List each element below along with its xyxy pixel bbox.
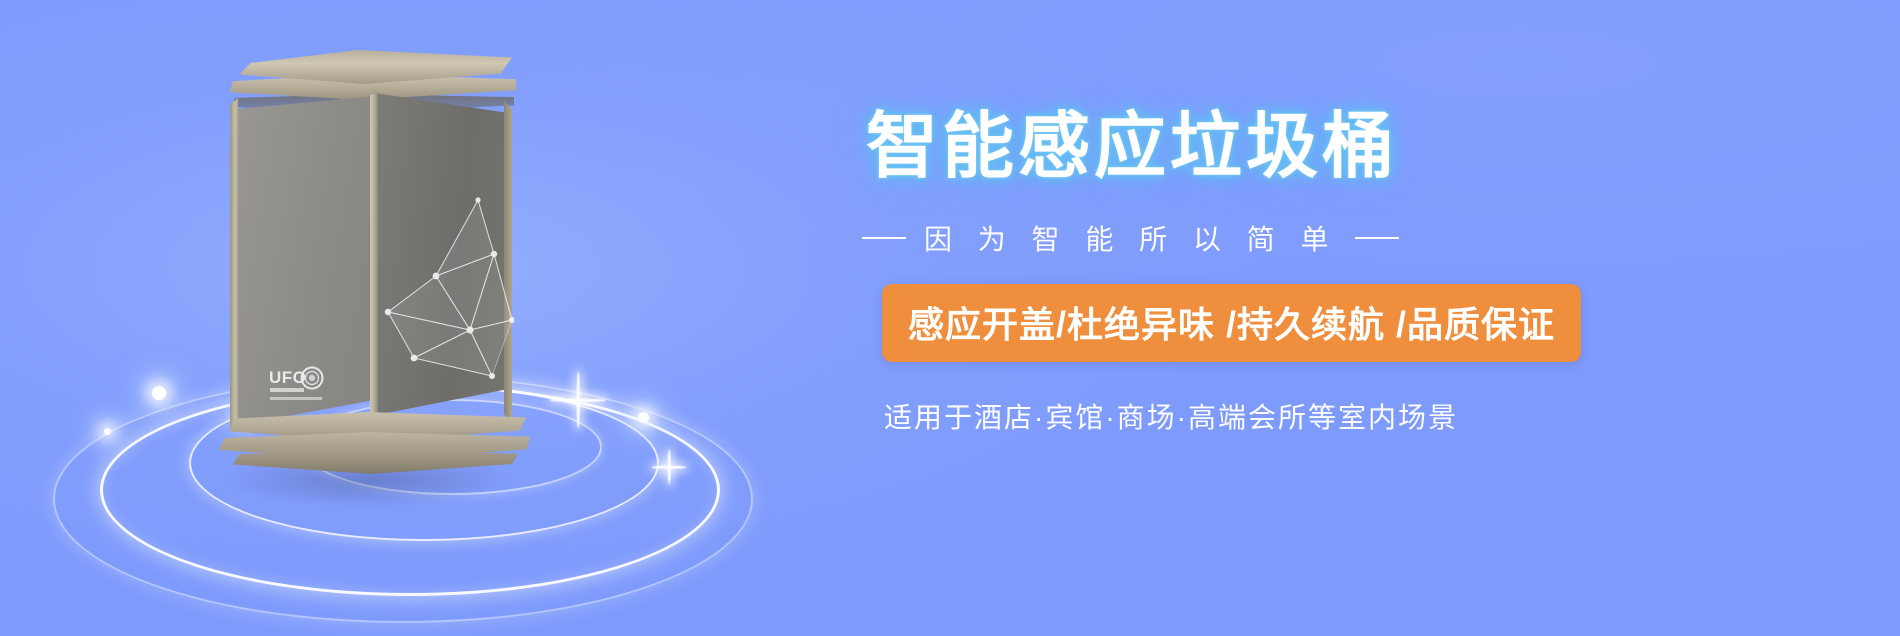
subheadline-text: 因 为 智 能 所 以 简 单 — [924, 218, 1337, 258]
trash-bin-product: UFO — [210, 50, 530, 460]
sparkle-dot-icon — [638, 412, 649, 423]
sparkle-dot-icon — [104, 428, 111, 435]
bin-edge-left — [230, 98, 238, 428]
sparkle-star-icon — [652, 450, 686, 484]
product-scene: UFO — [60, 20, 760, 620]
marketing-copy: 智能感应垃圾桶 因 为 智 能 所 以 简 单 感应开盖/杜绝异味 /持久续航 … — [860, 110, 1740, 436]
headline: 智能感应垃圾桶 — [866, 110, 1740, 186]
low-poly-network-graphic — [374, 180, 514, 400]
subheadline-rule-left — [862, 237, 906, 239]
promo-banner: UFO 智能感应垃圾桶 因 为 智 能 所 以 简 单 感应开盖/杜绝异味 /持… — [0, 0, 1900, 636]
sparkle-star-icon — [550, 372, 606, 428]
sparkle-dot-icon — [152, 386, 166, 400]
subheadline-rule-right — [1355, 237, 1399, 239]
use-case-line: 适用于酒店·宾馆·商场·高端会所等室内场景 — [884, 396, 1740, 436]
brand-logo-ufo: UFO — [268, 366, 330, 410]
subheadline: 因 为 智 能 所 以 简 单 — [862, 218, 1740, 258]
feature-highlight-bar: 感应开盖/杜绝异味 /持久续航 /品质保证 — [882, 284, 1581, 362]
